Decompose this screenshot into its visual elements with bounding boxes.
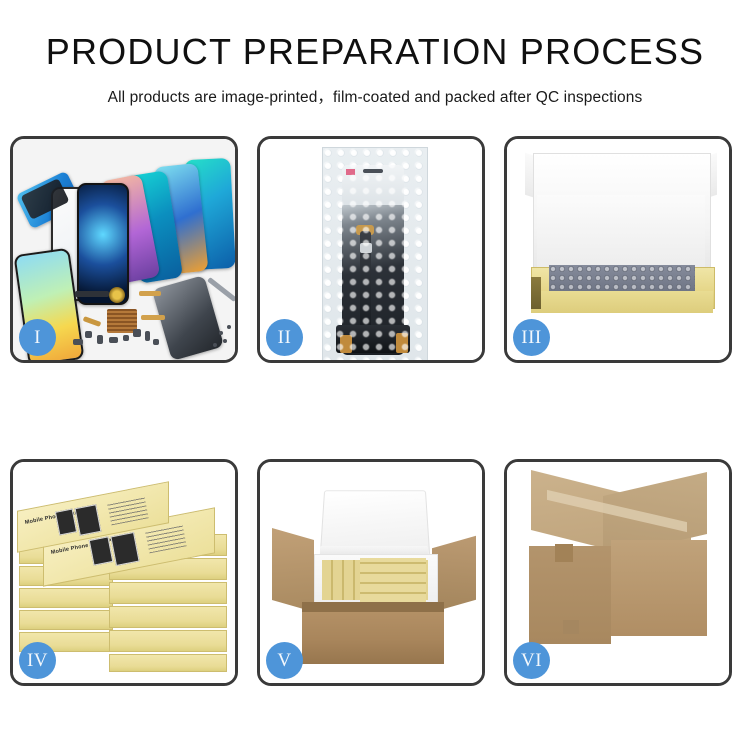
small-part-3: [109, 337, 118, 343]
panel-3-step-badge: III: [513, 319, 550, 356]
yellow-tray-corner: [531, 277, 541, 309]
carton-corner-tab-top: [555, 544, 573, 562]
flex-cable-part-1: [139, 291, 161, 296]
stacked-box-r5: [109, 630, 227, 652]
yellow-tray-front-wall: [531, 291, 713, 313]
stacked-box-r4: [109, 606, 227, 628]
carton-front-right-face: [611, 540, 707, 636]
process-panel-2[interactable]: II: [257, 136, 485, 363]
stacked-box-l5: [19, 610, 113, 630]
process-panel-3[interactable]: III: [504, 136, 732, 363]
small-part-4: [123, 335, 129, 341]
stacked-box-r3: [109, 582, 227, 604]
panel-1-step-badge: I: [19, 319, 56, 356]
carton-inner-rim: [302, 602, 444, 612]
panel-4-step-badge: IV: [19, 642, 56, 679]
bubble-wrap-overlay: [322, 147, 426, 360]
process-panel-5[interactable]: V: [257, 459, 485, 686]
page-header: PRODUCT PREPARATION PROCESS All products…: [0, 0, 750, 107]
carton-flap-left: [272, 528, 314, 612]
process-panel-4[interactable]: Mobile Phone Spare Parts Mobile Phone Sp…: [10, 459, 238, 686]
phone-screen-main: [77, 183, 129, 305]
process-panel-6[interactable]: VI: [504, 459, 732, 686]
process-panel-1[interactable]: I: [10, 136, 238, 363]
small-part-2: [97, 335, 103, 344]
small-part-6: [145, 331, 150, 341]
page-title: PRODUCT PREPARATION PROCESS: [0, 34, 750, 70]
small-part-8: [153, 339, 159, 345]
small-part-1: [85, 331, 92, 338]
panel-6-step-badge: VI: [513, 642, 550, 679]
speaker-coil-part: [109, 287, 125, 303]
screw-part-2: [227, 325, 231, 329]
flex-cable-part-2: [141, 315, 165, 320]
carton-flap-right: [432, 536, 476, 613]
small-part-7: [73, 339, 83, 345]
panel-5-step-badge: V: [266, 642, 303, 679]
page-subtitle: All products are image-printed，film-coat…: [0, 85, 750, 107]
yellow-boxes-row-right: [360, 558, 426, 602]
stacked-box-l4: [19, 588, 113, 608]
battery-connector-part: [75, 291, 109, 297]
white-foam-sheet: [537, 195, 705, 267]
process-panel-grid: I II: [10, 136, 740, 686]
panel-2-step-badge: II: [266, 319, 303, 356]
stacked-box-r6: [109, 654, 227, 672]
small-part-5: [133, 329, 141, 337]
carton-corner-tab-bottom: [563, 620, 579, 634]
screw-part-1: [219, 331, 223, 335]
screw-part-3: [223, 339, 227, 343]
screw-part-4: [213, 343, 217, 347]
bubble-wrapped-contents: [549, 265, 695, 293]
